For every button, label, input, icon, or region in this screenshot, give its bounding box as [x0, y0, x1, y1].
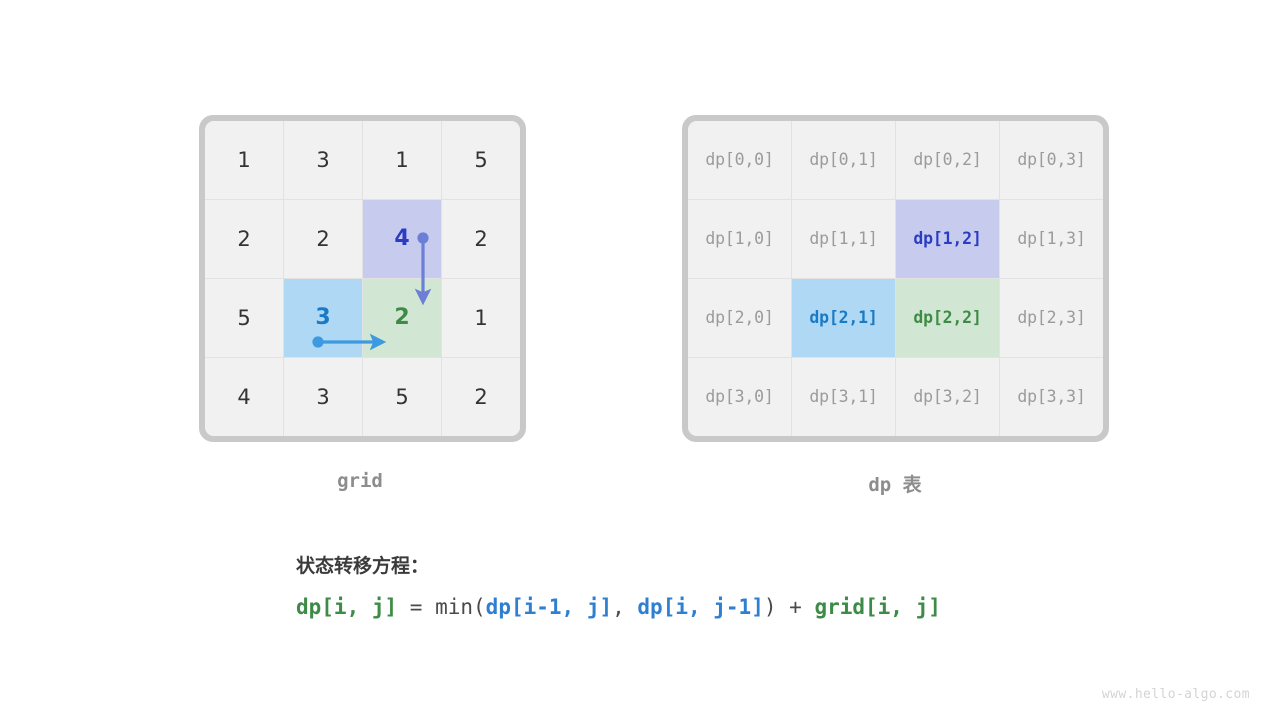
grid-cell-3-0: 4 [205, 358, 284, 437]
grid-cell-0-2: 1 [363, 121, 442, 200]
dp-cell-label: dp[2,0] [688, 310, 791, 327]
grid-cell-value: 3 [284, 307, 362, 329]
dp-table: dp[0,0] dp[0,1] dp[0,2] dp[0,3] dp[1,0] … [688, 121, 1103, 436]
table-row: dp[2,0] dp[2,1] dp[2,2] dp[2,3] [688, 279, 1103, 358]
grid-cell-0-3: 5 [442, 121, 521, 200]
formula-comma: , [612, 595, 637, 619]
dp-cell-label: dp[0,3] [1000, 152, 1103, 169]
dp-cell-0-0: dp[0,0] [688, 121, 792, 200]
dp-cell-label: dp[1,3] [1000, 231, 1103, 248]
dp-cell-1-0: dp[1,0] [688, 200, 792, 279]
dp-cell-label: dp[2,2] [896, 310, 999, 327]
dp-cell-1-1: dp[1,1] [792, 200, 896, 279]
grid-cell-value: 1 [363, 150, 441, 171]
table-row: 5 3 2 1 [205, 279, 520, 358]
grid-cell-3-2: 5 [363, 358, 442, 437]
grid-cell-1-1: 2 [284, 200, 363, 279]
dp-caption: dp 表 [682, 470, 1108, 497]
grid-cell-value: 4 [363, 228, 441, 250]
dp-cell-0-3: dp[0,3] [1000, 121, 1104, 200]
dp-cell-label: dp[3,1] [792, 389, 895, 406]
dp-cell-label: dp[1,1] [792, 231, 895, 248]
formula-arg1: dp[i-1, j] [486, 595, 612, 619]
dp-cell-3-3: dp[3,3] [1000, 358, 1104, 437]
dp-cell-label: dp[0,1] [792, 152, 895, 169]
dp-frame: dp[0,0] dp[0,1] dp[0,2] dp[0,3] dp[1,0] … [682, 115, 1109, 442]
diagram-canvas: 1 3 1 5 2 2 4 2 5 3 2 1 4 [0, 0, 1280, 520]
dp-cell-3-1: dp[3,1] [792, 358, 896, 437]
grid-cell-value: 3 [284, 387, 362, 408]
dp-cell-label: dp[2,3] [1000, 310, 1103, 327]
grid-cell-value: 2 [284, 229, 362, 250]
state-transition-equation: 状态转移方程： dp[i, j] = min(dp[i-1, j], dp[i,… [296, 556, 941, 619]
formula-min-close: ) [764, 595, 777, 619]
grid-cell-value: 2 [442, 229, 520, 250]
dp-cell-2-1: dp[2,1] [792, 279, 896, 358]
grid-cell-3-1: 3 [284, 358, 363, 437]
equation-formula: dp[i, j] = min(dp[i-1, j], dp[i, j-1]) +… [296, 596, 941, 619]
dp-cell-label: dp[2,1] [792, 310, 895, 327]
dp-cell-2-0: dp[2,0] [688, 279, 792, 358]
table-row: dp[0,0] dp[0,1] dp[0,2] dp[0,3] [688, 121, 1103, 200]
grid-cell-value: 2 [442, 387, 520, 408]
dp-cell-label: dp[3,3] [1000, 389, 1103, 406]
grid-cell-3-3: 2 [442, 358, 521, 437]
grid-cell-value: 5 [205, 308, 283, 329]
grid-cell-1-0: 2 [205, 200, 284, 279]
grid-cell-2-1: 3 [284, 279, 363, 358]
grid-table: 1 3 1 5 2 2 4 2 5 3 2 1 4 [205, 121, 520, 436]
dp-cell-label: dp[1,0] [688, 231, 791, 248]
grid-cell-2-0: 5 [205, 279, 284, 358]
dp-cell-label: dp[3,2] [896, 389, 999, 406]
dp-cell-0-2: dp[0,2] [896, 121, 1000, 200]
dp-cell-3-0: dp[3,0] [688, 358, 792, 437]
dp-cell-1-2: dp[1,2] [896, 200, 1000, 279]
grid-frame: 1 3 1 5 2 2 4 2 5 3 2 1 4 [199, 115, 526, 442]
grid-cell-1-3: 2 [442, 200, 521, 279]
grid-cell-value: 1 [442, 308, 520, 329]
dp-cell-label: dp[0,0] [688, 152, 791, 169]
grid-cell-value: 4 [205, 387, 283, 408]
grid-caption: grid [199, 470, 521, 492]
table-row: dp[1,0] dp[1,1] dp[1,2] dp[1,3] [688, 200, 1103, 279]
grid-cell-value: 2 [205, 229, 283, 250]
table-row: dp[3,0] dp[3,1] dp[3,2] dp[3,3] [688, 358, 1103, 437]
dp-cell-0-1: dp[0,1] [792, 121, 896, 200]
formula-arg2: dp[i, j-1] [637, 595, 763, 619]
grid-cell-value: 3 [284, 150, 362, 171]
dp-cell-3-2: dp[3,2] [896, 358, 1000, 437]
dp-cell-2-3: dp[2,3] [1000, 279, 1104, 358]
grid-cell-value: 5 [363, 387, 441, 408]
table-row: 4 3 5 2 [205, 358, 520, 437]
watermark: www.hello-algo.com [1102, 687, 1250, 702]
grid-cell-0-0: 1 [205, 121, 284, 200]
dp-cell-label: dp[1,2] [896, 231, 999, 248]
table-row: 2 2 4 2 [205, 200, 520, 279]
grid-cell-value: 1 [205, 150, 283, 171]
dp-cell-1-3: dp[1,3] [1000, 200, 1104, 279]
formula-rhs: grid[i, j] [814, 595, 940, 619]
dp-panel: dp[0,0] dp[0,1] dp[0,2] dp[0,3] dp[1,0] … [682, 115, 1109, 442]
equation-title: 状态转移方程： [296, 556, 941, 577]
grid-cell-value: 5 [442, 150, 520, 171]
grid-cell-0-1: 3 [284, 121, 363, 200]
grid-cell-1-2: 4 [363, 200, 442, 279]
grid-cell-value: 2 [363, 307, 441, 329]
grid-cell-2-2: 2 [363, 279, 442, 358]
formula-lhs: dp[i, j] [296, 595, 397, 619]
table-row: 1 3 1 5 [205, 121, 520, 200]
formula-equals: = [397, 595, 435, 619]
formula-min-open: min( [435, 595, 486, 619]
dp-cell-2-2: dp[2,2] [896, 279, 1000, 358]
grid-cell-2-3: 1 [442, 279, 521, 358]
grid-panel: 1 3 1 5 2 2 4 2 5 3 2 1 4 [199, 115, 526, 442]
dp-cell-label: dp[3,0] [688, 389, 791, 406]
formula-plus: + [777, 595, 815, 619]
dp-cell-label: dp[0,2] [896, 152, 999, 169]
